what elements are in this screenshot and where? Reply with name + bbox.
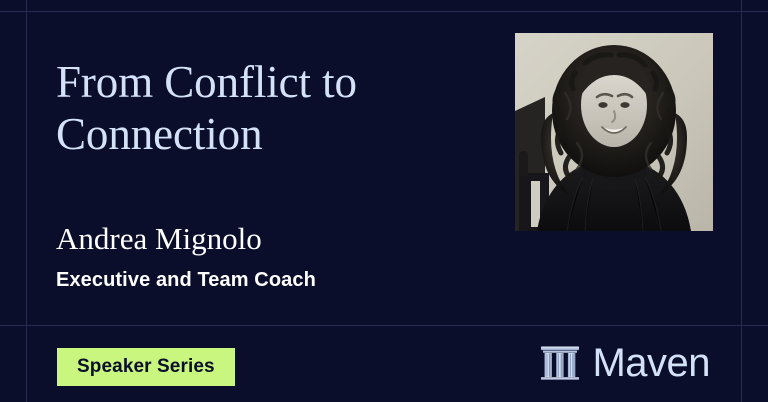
- speaker-series-badge-label: Speaker Series: [77, 356, 215, 378]
- greek-temple-columns-icon: [540, 344, 580, 382]
- speaker-name: Andrea Mignolo: [56, 222, 262, 256]
- grid-line-horizontal-bottom: [0, 325, 768, 326]
- grid-line-horizontal-top: [0, 11, 768, 12]
- maven-logo: Maven: [540, 343, 710, 383]
- grid-line-vertical-right: [741, 0, 742, 402]
- speaker-series-promo-card: From Conflict to Connection: [0, 0, 768, 402]
- speaker-series-badge: Speaker Series: [57, 348, 235, 386]
- speaker-portrait-photo: [515, 33, 713, 231]
- grid-line-vertical-left: [26, 0, 27, 402]
- speaker-role: Executive and Team Coach: [56, 268, 316, 292]
- maven-wordmark: Maven: [592, 343, 710, 383]
- event-title: From Conflict to Connection: [56, 56, 486, 160]
